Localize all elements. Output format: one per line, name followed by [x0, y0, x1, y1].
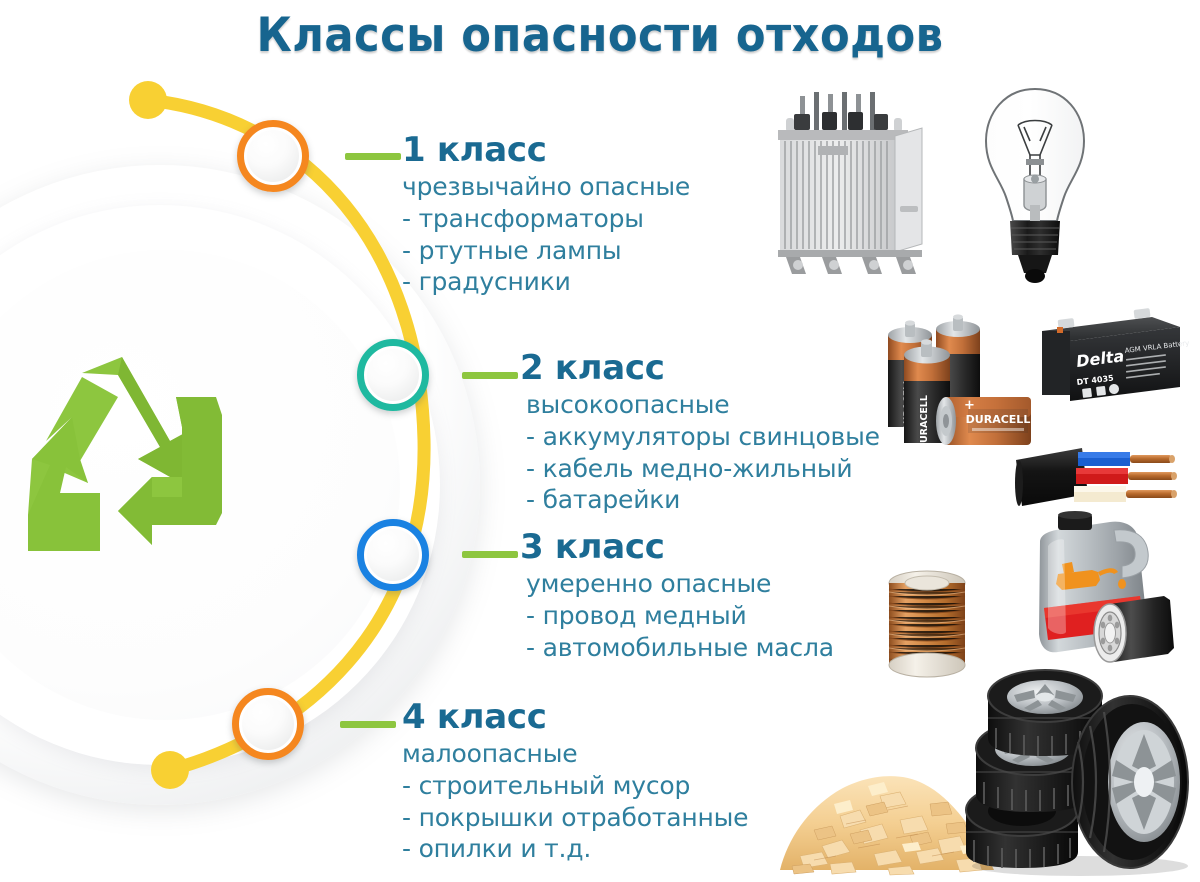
transformer-top-plate [778, 130, 908, 140]
class-block-3: 3 класс умеренно опасные - провод медный… [520, 530, 834, 663]
class-block-2: 2 класс высокоопасные - аккумуляторы сви… [520, 351, 880, 516]
class-4-subtitle: малоопасные [402, 739, 748, 770]
class-1-item: - градусники [402, 266, 690, 298]
bulb-filament-bridge [1026, 159, 1044, 165]
connector-dash-3 [462, 551, 518, 558]
light-bulb-illustration [980, 83, 1090, 298]
class-4-item: - покрышки отработанные [402, 802, 748, 834]
connector-dash-4 [340, 721, 396, 728]
class-1-item: - трансформаторы [402, 203, 690, 235]
class-1-item: - ртутные лампы [402, 235, 690, 267]
bulb-contact [1025, 269, 1045, 283]
transformer-bushings [786, 92, 902, 132]
class-node-2[interactable] [357, 339, 429, 411]
battery-brand-text: DURACELL [919, 395, 930, 451]
lead-acid-battery-illustration: Delta AGM VRLA Battery DT 4035 [1030, 305, 1185, 415]
class-block-1: 1 класс чрезвычайно опасные - трансформа… [402, 133, 690, 298]
infographic-canvas: Классы опасности отходов [0, 0, 1200, 882]
class-1-subtitle: чрезвычайно опасные [402, 172, 690, 203]
class-2-item: - аккумуляторы свинцовые [520, 421, 880, 453]
arc-end-dot [151, 751, 189, 789]
class-1-heading: 1 класс [402, 133, 690, 169]
class-3-heading: 3 класс [520, 530, 834, 566]
tire-standing [1072, 696, 1188, 868]
class-3-item: - провод медный [520, 600, 834, 632]
oil-filter [1094, 596, 1174, 662]
class-3-item: - автомобильные масла [520, 632, 834, 664]
battery-brand-text: DURACELL [966, 413, 1031, 426]
used-tires-illustration [960, 690, 1195, 875]
transformer-nameplate [818, 146, 848, 155]
recycle-arrow-left [28, 377, 118, 551]
class-2-subtitle: высокоопасные [520, 390, 880, 421]
transformer-feet [786, 257, 916, 274]
class-4-heading: 4 класс [402, 700, 748, 736]
motor-oil-canister-illustration [1018, 512, 1190, 667]
class-node-1[interactable] [237, 120, 309, 192]
connector-dash-1 [345, 153, 401, 160]
class-2-item: - батарейки [520, 484, 880, 516]
cable-conductor-yellow [1074, 486, 1177, 502]
copper-wire-spool-illustration [872, 565, 982, 685]
oil-canister-highlight [1048, 539, 1066, 634]
class-1-item-list: - трансформаторы - ртутные лампы - граду… [402, 203, 690, 298]
battery-side-face [1042, 331, 1070, 395]
class-3-item-list: - провод медный - автомобильные масла [520, 600, 834, 663]
class-4-item: - строительный мусор [402, 770, 748, 802]
bulb-screw-base [1010, 221, 1060, 255]
class-node-3[interactable] [357, 519, 429, 591]
transformer-base [778, 250, 922, 257]
arc-start-dot [129, 81, 167, 119]
class-4-item-list: - строительный мусор - покрышки отработа… [402, 770, 748, 865]
svg-text:+: + [964, 398, 975, 413]
class-2-item-list: - аккумуляторы свинцовые - кабель медно-… [520, 421, 880, 516]
class-2-item: - кабель медно-жильный [520, 453, 880, 485]
transformer-side-cabinet [895, 128, 922, 252]
cable-conductor-red [1076, 468, 1177, 484]
spool-bottom-flange [889, 653, 965, 677]
class-block-4: 4 класс малоопасные - строительный мусор… [402, 700, 748, 865]
class-node-4[interactable] [232, 688, 304, 760]
class-3-subtitle: умеренно опасные [520, 569, 834, 600]
cable-conductor-blue [1078, 452, 1175, 466]
class-4-item: - опилки и т.д. [402, 833, 748, 865]
recycle-symbol-illustration [10, 355, 265, 590]
transformer-illustration [770, 88, 940, 288]
spool-hub [905, 576, 949, 590]
class-2-heading: 2 класс [520, 351, 880, 387]
connector-dash-2 [462, 372, 518, 379]
alkaline-batteries-illustration: DURACELL DURACELL DURACELL [868, 305, 1043, 460]
